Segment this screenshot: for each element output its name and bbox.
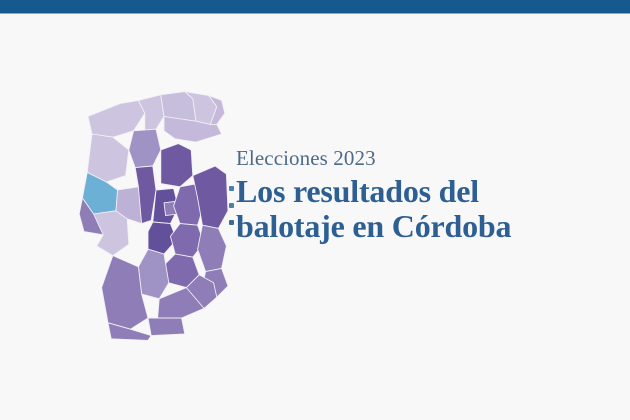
map-region-pocho[interactable] xyxy=(87,134,129,182)
page-title: Los resultados del balotaje en Córdoba xyxy=(236,174,576,244)
legend-swatch-3 xyxy=(229,220,234,225)
headline-line-2: balotaje en Córdoba xyxy=(236,209,576,244)
map-regions xyxy=(79,92,228,341)
map-region-totoral[interactable] xyxy=(161,144,193,187)
headline-block: Elecciones 2023 Los resultados del balot… xyxy=(236,146,576,244)
top-accent-bar xyxy=(0,0,630,13)
cordoba-choropleth-map[interactable] xyxy=(44,52,244,360)
map-region-calamuchita[interactable] xyxy=(138,249,168,299)
map-region-pte-roque-saenz-pena[interactable] xyxy=(148,318,185,336)
map-region-union[interactable] xyxy=(198,225,227,271)
map-region-minas[interactable] xyxy=(129,129,161,167)
top-accent-bar-shadow xyxy=(0,13,630,14)
legend-swatch-1 xyxy=(229,186,234,191)
article-card: Elecciones 2023 Los resultados del balot… xyxy=(0,0,630,420)
headline-line-1: Los resultados del xyxy=(236,174,576,209)
map-svg xyxy=(44,52,244,360)
kicker-text: Elecciones 2023 xyxy=(236,146,576,171)
legend-swatch-2 xyxy=(229,203,234,208)
